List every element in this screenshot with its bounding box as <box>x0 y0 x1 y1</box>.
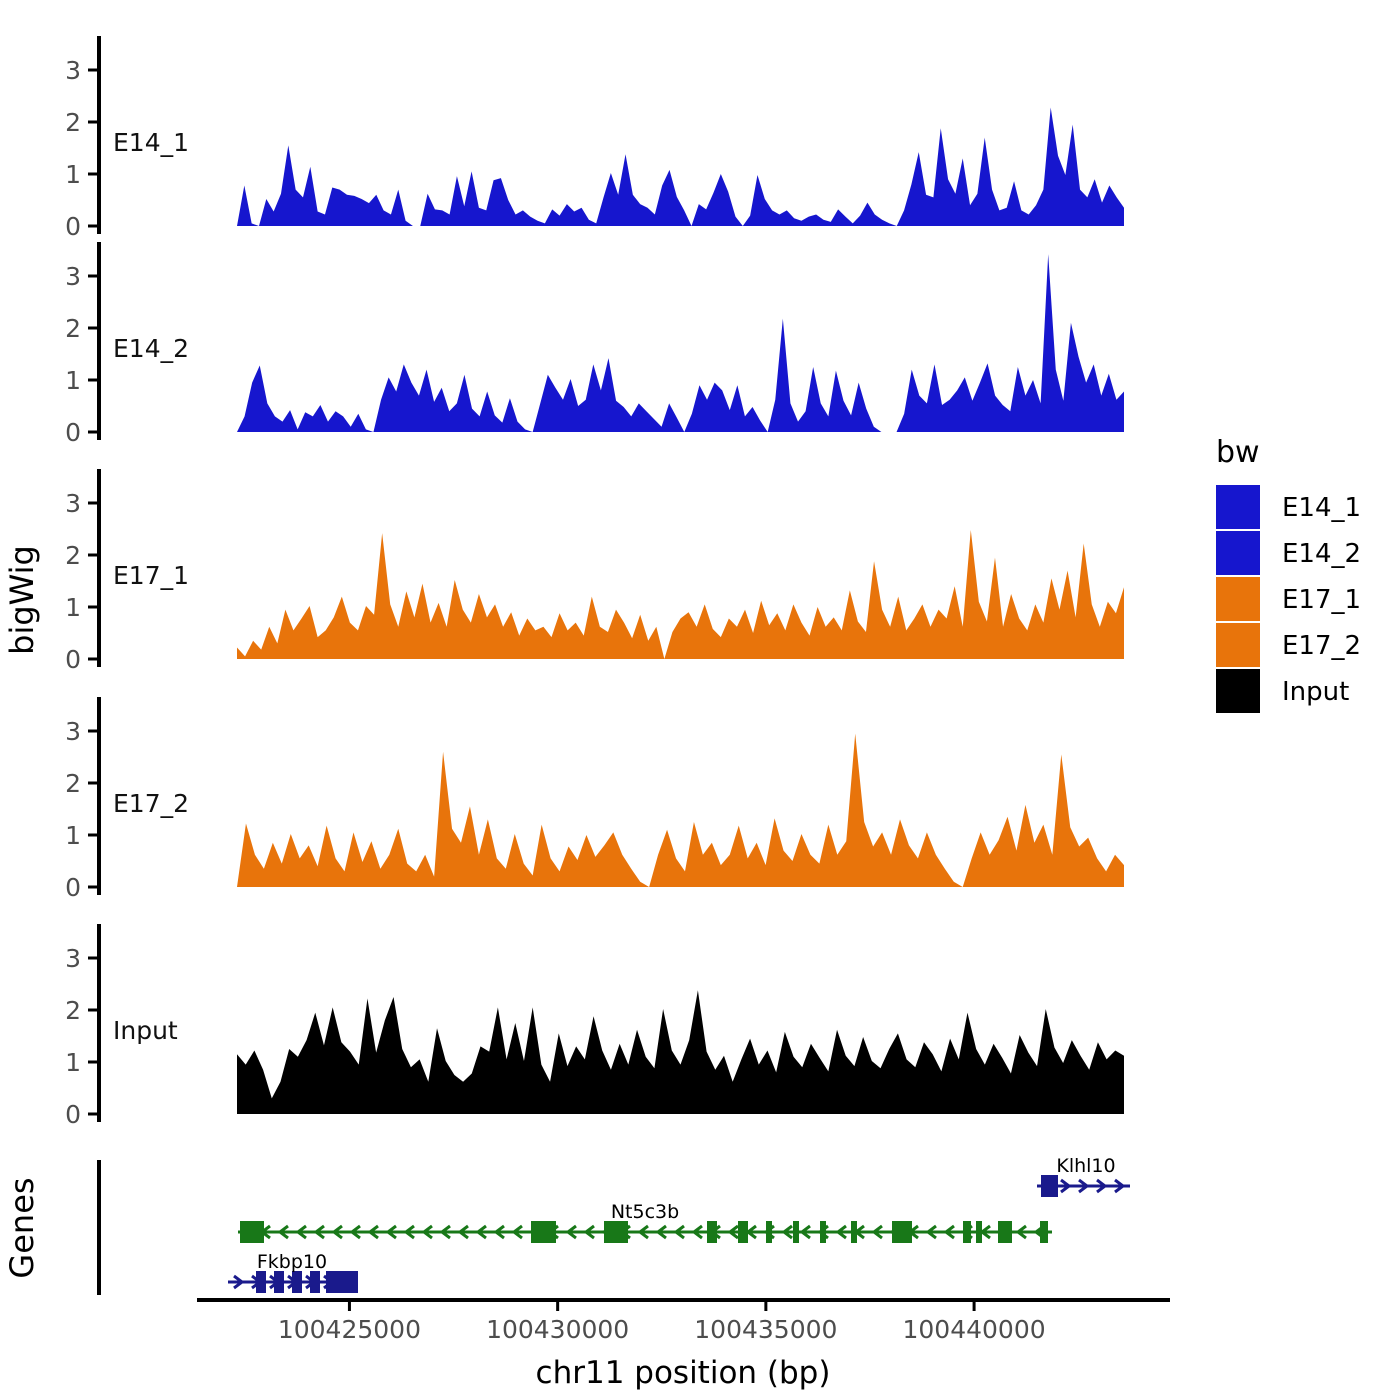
y-tick-label-E14_2-0: 0 <box>65 418 81 447</box>
legend-label-E14_2: E14_2 <box>1282 539 1361 569</box>
gene-exon-Nt5c3b-11 <box>963 1221 971 1243</box>
genes-axis-title: Genes <box>3 1177 41 1278</box>
legend-swatch-E17_2 <box>1216 623 1260 667</box>
gene-exon-Nt5c3b-4 <box>707 1221 717 1243</box>
y-tick-label-E17_1-3: 3 <box>65 489 81 518</box>
panel-strip-label-E14_1: E14_1 <box>113 128 189 157</box>
legend-swatch-Input <box>1216 669 1260 713</box>
panel-strip-label-E17_2: E17_2 <box>113 789 189 818</box>
gene-exon-Nt5c3b-1 <box>240 1221 264 1243</box>
figure-canvas: 0123E14_10123E14_20123E17_10123E17_20123… <box>0 0 1400 1400</box>
y-tick-label-E14_1-0: 0 <box>65 212 81 241</box>
legend-title: bw <box>1216 435 1260 470</box>
gene-exon-Nt5c3b-8 <box>820 1221 826 1243</box>
legend-swatch-E14_1 <box>1216 485 1260 529</box>
track-panel-E17_2: 0123E17_2 <box>65 697 1124 902</box>
y-tick-label-E17_2-1: 1 <box>65 821 81 850</box>
y-tick-label-E14_1-1: 1 <box>65 160 81 189</box>
legend-swatch-E14_2 <box>1216 531 1260 575</box>
y-tick-label-E17_2-3: 3 <box>65 717 81 746</box>
gene-exon-Fkbp10-5 <box>326 1271 358 1293</box>
gene-exon-Nt5c3b-14 <box>1040 1221 1048 1243</box>
gene-exon-Fkbp10-2 <box>274 1271 284 1293</box>
y-tick-label-E14_2-1: 1 <box>65 366 81 395</box>
panel-strip-label-E17_1: E17_1 <box>113 561 189 590</box>
gene-exon-Nt5c3b-9 <box>851 1221 857 1243</box>
gene-Klhl10[interactable]: Klhl10 <box>1037 1155 1130 1197</box>
gene-Nt5c3b[interactable]: Nt5c3b <box>238 1201 1052 1243</box>
x-axis-title: chr11 position (bp) <box>536 1355 831 1391</box>
gene-exon-Nt5c3b-13 <box>998 1221 1012 1243</box>
track-area-E14_1 <box>237 107 1124 226</box>
gene-label-Klhl10: Klhl10 <box>1056 1155 1115 1177</box>
y-axis-title-bigwig: bigWig <box>3 545 41 655</box>
genome-browser-figure: 0123E14_10123E14_20123E17_10123E17_20123… <box>0 0 1400 1400</box>
x-tick-label-100425000: 100425000 <box>278 1315 421 1344</box>
track-panel-E14_2: 0123E14_2 <box>65 242 1124 447</box>
track-area-E17_2 <box>237 734 1124 887</box>
y-tick-label-E17_1-1: 1 <box>65 593 81 622</box>
track-area-E17_1 <box>237 530 1124 659</box>
y-tick-label-E14_2-2: 2 <box>65 314 81 343</box>
track-panel-Input: 0123Input <box>65 924 1124 1129</box>
gene-exon-Nt5c3b-12 <box>976 1221 982 1243</box>
legend-label-E14_1: E14_1 <box>1282 493 1361 523</box>
y-tick-label-E17_2-2: 2 <box>65 769 81 798</box>
y-tick-label-E17_1-0: 0 <box>65 645 81 674</box>
gene-exon-Nt5c3b-3 <box>604 1221 628 1243</box>
track-panel-E14_1: 0123E14_1 <box>65 36 1124 241</box>
legend-item-E14_2[interactable]: E14_2 <box>1216 531 1361 575</box>
y-tick-label-Input-0: 0 <box>65 1100 81 1129</box>
gene-exon-Nt5c3b-7 <box>793 1221 799 1243</box>
gene-exon-Nt5c3b-6 <box>766 1221 772 1243</box>
y-tick-label-E14_1-2: 2 <box>65 108 81 137</box>
gene-exon-Nt5c3b-5 <box>738 1221 748 1243</box>
legend-label-E17_2: E17_2 <box>1282 631 1361 661</box>
legend-label-Input: Input <box>1282 677 1349 707</box>
panel-strip-label-E14_2: E14_2 <box>113 334 189 363</box>
track-area-Input <box>237 990 1124 1114</box>
gene-label-Fkbp10: Fkbp10 <box>257 1251 327 1273</box>
y-tick-label-E14_1-3: 3 <box>65 56 81 85</box>
y-tick-label-Input-1: 1 <box>65 1048 81 1077</box>
y-tick-label-Input-3: 3 <box>65 944 81 973</box>
gene-exon-Nt5c3b-2 <box>531 1221 556 1243</box>
legend-item-E17_1[interactable]: E17_1 <box>1216 577 1361 621</box>
y-tick-label-E14_2-3: 3 <box>65 262 81 291</box>
legend-swatch-E17_1 <box>1216 577 1260 621</box>
track-panel-E17_1: 0123E17_1 <box>65 469 1124 674</box>
gene-label-Nt5c3b: Nt5c3b <box>611 1201 679 1223</box>
track-area-E14_2 <box>237 254 1124 432</box>
y-tick-label-E17_1-2: 2 <box>65 541 81 570</box>
x-tick-label-100440000: 100440000 <box>903 1315 1046 1344</box>
gene-exon-Fkbp10-1 <box>256 1271 266 1293</box>
y-tick-label-E17_2-0: 0 <box>65 873 81 902</box>
legend-item-E14_1[interactable]: E14_1 <box>1216 485 1361 529</box>
gene-exon-Fkbp10-3 <box>292 1271 302 1293</box>
x-tick-label-100435000: 100435000 <box>694 1315 837 1344</box>
panel-strip-label-Input: Input <box>113 1016 178 1045</box>
legend-label-E17_1: E17_1 <box>1282 585 1361 615</box>
x-tick-label-100430000: 100430000 <box>486 1315 629 1344</box>
gene-exon-Fkbp10-4 <box>310 1271 320 1293</box>
legend-item-Input[interactable]: Input <box>1216 669 1349 713</box>
y-tick-label-Input-2: 2 <box>65 996 81 1025</box>
gene-exon-Nt5c3b-10 <box>892 1221 912 1243</box>
gene-exon-Klhl10-1 <box>1041 1175 1058 1197</box>
gene-Fkbp10[interactable]: Fkbp10 <box>228 1251 358 1293</box>
legend-item-E17_2[interactable]: E17_2 <box>1216 623 1361 667</box>
